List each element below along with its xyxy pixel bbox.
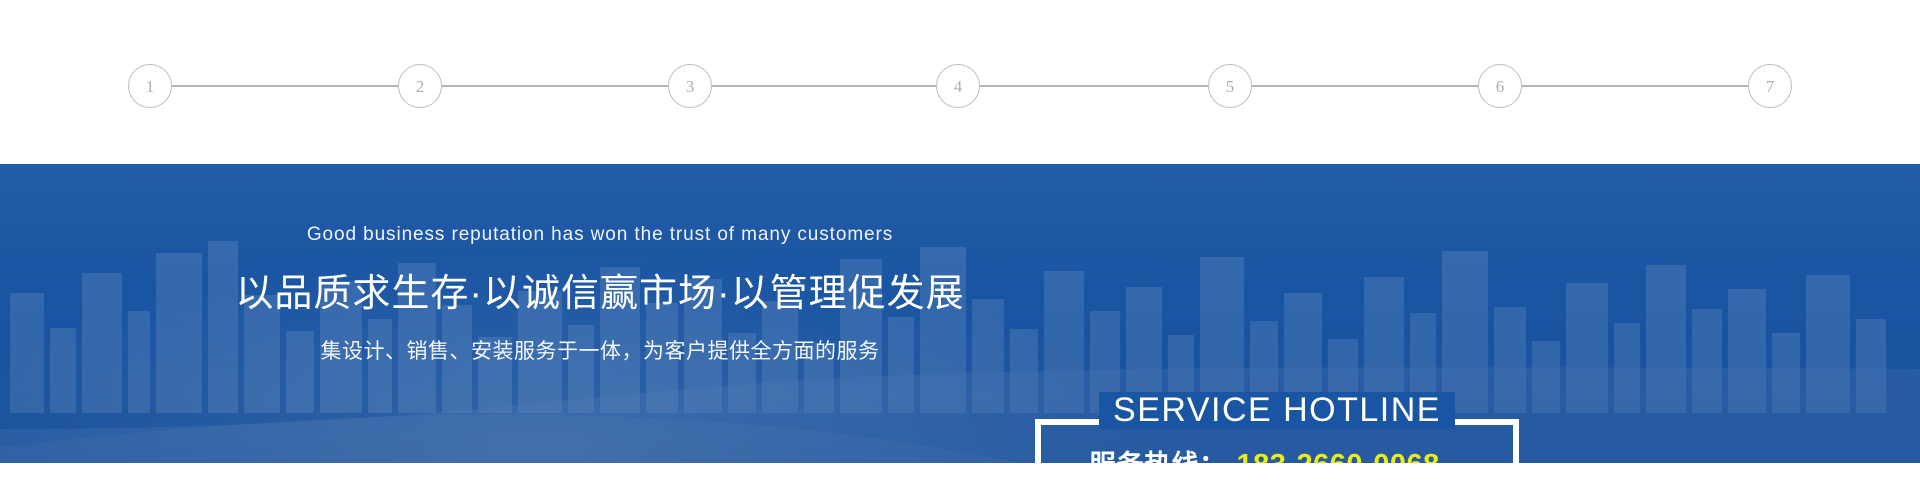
step-node-7[interactable]: 7	[1748, 64, 1792, 108]
step-node-3[interactable]: 3	[668, 64, 712, 108]
step-pagination: 1 2 3 4 5 6 7	[0, 0, 1920, 164]
step-node-5[interactable]: 5	[1208, 64, 1252, 108]
step-node-1[interactable]: 1	[128, 64, 172, 108]
step-node-label: 7	[1766, 78, 1775, 95]
step-node-6[interactable]: 6	[1478, 64, 1522, 108]
hotline-number-list: 服务热线： 183-2660-0068 服务热线： 0551-63749777	[1035, 443, 1519, 463]
step-node-2[interactable]: 2	[398, 64, 442, 108]
slogan-english-line: Good business reputation has won the tru…	[200, 224, 1000, 246]
step-node-label: 4	[954, 78, 963, 95]
slogan-block: Good business reputation has won the tru…	[200, 224, 1000, 365]
step-node-label: 6	[1496, 78, 1505, 95]
slogan-chinese-subline: 集设计、销售、安装服务于一体，为客户提供全方面的服务	[200, 335, 1000, 365]
blue-banner: Good business reputation has won the tru…	[0, 164, 1920, 463]
slogan-chinese-headline: 以品质求生存·以诚信赢市场·以管理促发展	[200, 262, 1000, 317]
step-node-label: 5	[1226, 78, 1235, 95]
step-node-label: 1	[146, 78, 155, 95]
hotline-title: SERVICE HOTLINE	[1099, 392, 1455, 429]
service-hotline-box: SERVICE HOTLINE 服务热线： 183-2660-0068 服务热线…	[1035, 419, 1519, 463]
step-node-label: 2	[416, 78, 425, 95]
step-node-4[interactable]: 4	[936, 64, 980, 108]
page-root: 1 2 3 4 5 6 7	[0, 0, 1920, 500]
hotline-label: 服务热线：	[1089, 443, 1227, 463]
step-node-label: 3	[686, 78, 695, 95]
hotline-row-primary: 服务热线： 183-2660-0068	[1035, 443, 1519, 463]
hotline-number-primary[interactable]: 183-2660-0068	[1237, 449, 1440, 463]
